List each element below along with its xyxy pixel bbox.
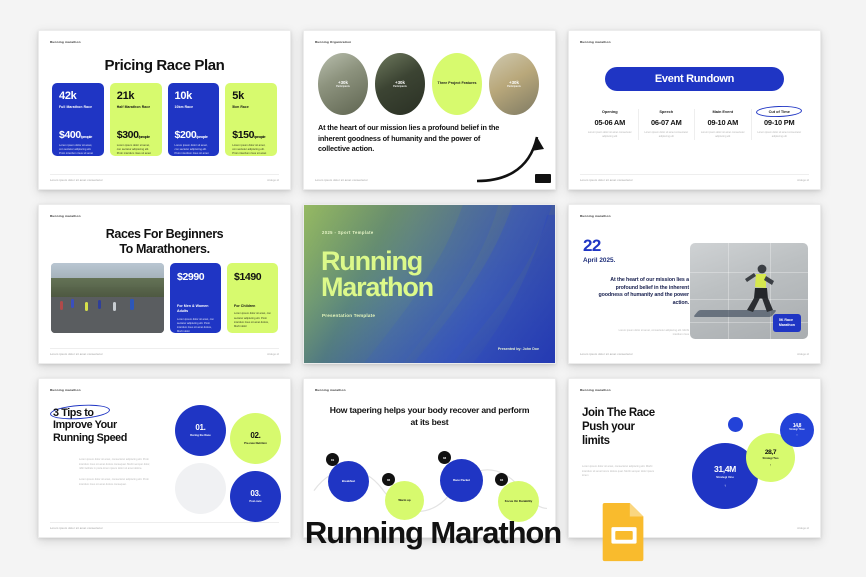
event-time: 09-10 AM: [699, 118, 747, 127]
hero-title: Running Marathon: [321, 248, 433, 301]
hero-title-line-1: Running: [321, 248, 433, 274]
pricing-label: 5km Race: [232, 105, 270, 109]
slide-footer-page: slidego.id: [267, 352, 279, 356]
event-rundown-title: Event Rundown: [605, 67, 784, 91]
tip-label: Pre-race Nutrition: [244, 442, 267, 446]
tip-number: 01.: [195, 423, 205, 432]
bubble-label: Strategi Two: [763, 457, 779, 460]
mission-quote: At the heart of our mission lies a profo…: [597, 277, 689, 308]
slide-thumbnail-grid: Running marathon Pricing Race Plan 42k F…: [38, 30, 830, 530]
brand-mark: Running marathon: [315, 388, 346, 392]
pricing-price: $150/people: [232, 129, 270, 141]
bubble-trend-arrow-icon: ↑: [770, 463, 772, 467]
event-time: 09-10 PM: [756, 118, 804, 127]
decorative-dot: [728, 417, 743, 432]
photo-runner: [85, 302, 88, 311]
brand-mark: Running Organization: [315, 40, 351, 44]
divider: [580, 174, 809, 175]
event-day: 22: [583, 237, 601, 254]
divider: [50, 348, 279, 349]
pricing-desc: Lorem ipsum dolor sit amet, con sectetur…: [59, 144, 97, 156]
hero-kicker: 2025 - Sport Template: [322, 230, 374, 235]
pricing-desc: Lorem ipsum dolor sit amet, con sectetur…: [117, 144, 155, 156]
slide-footer-note: Lorem ipsum dolor sit amet consectetur: [580, 178, 633, 182]
photo-runner: [60, 301, 63, 310]
title-line-1: Join The Race: [582, 407, 655, 421]
tip-label: During the Race: [190, 434, 211, 438]
bubble-trend-arrow-icon: ↑: [796, 433, 798, 437]
pricing-label: Full Marathon Race: [59, 105, 97, 109]
step-label: Breakfast: [342, 479, 355, 483]
pricing-card[interactable]: 10k 10km Race $200/people Lorem ipsum do…: [168, 83, 220, 156]
pricing-label: Half Marathon Race: [117, 105, 155, 109]
slide-mission-features[interactable]: Running Organization +30kParticipants +3…: [303, 30, 556, 190]
event-column[interactable]: Speech 06-07 AM Lorem ipsum dolor sit am…: [639, 109, 696, 140]
event-month-year: April 2025.: [583, 257, 615, 264]
participant-badge: +30kParticipants: [507, 80, 521, 89]
title-line-3: Running Speed: [53, 432, 127, 444]
event-time: 06-07 AM: [643, 118, 691, 127]
page-title: Join The Race Push your limits: [582, 407, 655, 448]
hero-presented-by: Presented by: John Doe: [498, 347, 539, 351]
title-line-2: To Marathoners.: [39, 242, 290, 257]
race-price-card[interactable]: $1490 For Children Lorem ipsum dolor sit…: [227, 263, 278, 333]
pricing-amount: 5k: [232, 91, 270, 102]
pricing-per: /people: [196, 134, 207, 139]
races-content-row: $2990 For Men & Women Adults Lorem ipsum…: [51, 263, 278, 333]
slide-footer-page: slidego.id: [797, 178, 809, 182]
slide-footer-page: slidego.id: [267, 178, 279, 182]
slide-tapering[interactable]: Running marathon How tapering helps your…: [303, 378, 556, 538]
photo-circle[interactable]: +30kParticipants: [318, 53, 368, 115]
event-desc: Lorem ipsum dolor sit amet consectetur a…: [699, 131, 747, 140]
timeline-bubble[interactable]: Race Packet: [440, 459, 483, 502]
page-title: Races For Beginners To Marathoners.: [39, 227, 290, 257]
pricing-price: $300/people: [117, 129, 155, 141]
event-column[interactable]: Main Event 09-10 AM Lorem ipsum dolor si…: [695, 109, 752, 140]
tip-number: 03.: [250, 489, 260, 498]
pricing-card[interactable]: 42k Full Marathon Race $400/people Lorem…: [52, 83, 104, 156]
brand-mark: Running marathon: [50, 40, 81, 44]
tips-body-text: Lorem ipsum dolor sit amet, consectetur …: [79, 458, 151, 487]
mission-note: Lorem ipsum dolor sit amet, consectetur …: [609, 329, 689, 337]
photo-runner: [71, 299, 74, 308]
slide-pricing-race-plan[interactable]: Running marathon Pricing Race Plan 42k F…: [38, 30, 291, 190]
slide-footer-note: Lorem ipsum dolor sit amet consectetur: [50, 178, 103, 182]
event-desc: Lorem ipsum dolor sit amet consectetur a…: [756, 131, 804, 140]
photo-runner: [113, 302, 116, 311]
brand-mark: Running marathon: [50, 214, 81, 218]
banner-title: Running Marathon: [0, 515, 866, 551]
event-label: Speech: [643, 109, 691, 114]
photo-tile-line: [728, 243, 729, 339]
divider: [50, 174, 279, 175]
tip-circle-list: 01. During the Race 02. Pre-race Nutriti…: [175, 405, 281, 525]
feature-circle-label: Three Project Features: [438, 81, 477, 86]
brand-mark: Running marathon: [580, 214, 611, 218]
strategy-bubble-chart: 31,4M Strategi One ↑ 28,7 Strategi Two ↑…: [684, 403, 814, 523]
page-title: How tapering helps your body recover and…: [326, 405, 533, 428]
step-number-badge: 02: [382, 473, 395, 486]
runner-photo: 5K Race Marathon: [690, 243, 808, 339]
tip-circle[interactable]: 02. Pre-race Nutrition: [230, 413, 281, 464]
feature-circle[interactable]: Three Project Features: [432, 53, 482, 115]
brand-mark: Running marathon: [50, 388, 81, 392]
badge-line-2: Marathon: [779, 323, 795, 328]
step-number-badge: 04: [495, 473, 508, 486]
event-schedule-list: Opening 05-06 AM Lorem ipsum dolor sit a…: [582, 109, 807, 140]
join-body-text: Lorem ipsum dolor sit amet, consectetur …: [582, 465, 656, 479]
pricing-per: /people: [139, 134, 150, 139]
tips-paragraph: Lorem ipsum dolor sit amet, consectetur …: [79, 458, 151, 472]
race-price: $1490: [234, 271, 271, 283]
photo-circle[interactable]: +30kParticipants: [489, 53, 539, 115]
pricing-amount: 10k: [175, 91, 213, 102]
tip-placeholder-circle: [175, 463, 226, 514]
google-slides-icon: [593, 501, 655, 563]
slide-footer-page: slidego.id: [797, 352, 809, 356]
pricing-card-list: 42k Full Marathon Race $400/people Lorem…: [52, 83, 277, 156]
race-price-card[interactable]: $2990 For Men & Women Adults Lorem ipsum…: [170, 263, 221, 333]
title-line-2: Push your: [582, 421, 655, 435]
pricing-label: 10km Race: [175, 105, 213, 109]
pricing-card[interactable]: 21k Half Marathon Race $300/people Lorem…: [110, 83, 162, 156]
slide-footer-note: Lorem ipsum dolor sit amet consectetur: [580, 352, 633, 356]
slide-event-rundown[interactable]: Running marathon Event Rundown Opening 0…: [568, 30, 821, 190]
tip-label: Post-race: [249, 500, 261, 504]
brand-mark: Running marathon: [580, 40, 611, 44]
bubble-label: Strategi Three: [789, 429, 804, 431]
tip-circle[interactable]: 01. During the Race: [175, 405, 226, 456]
pricing-price: $200/people: [175, 129, 213, 141]
event-desc: Lorem ipsum dolor sit amet consectetur a…: [586, 131, 634, 140]
page-title: Pricing Race Plan: [39, 57, 290, 74]
event-desc: Lorem ipsum dolor sit amet consectetur a…: [643, 131, 691, 140]
pricing-per: /people: [81, 134, 92, 139]
feature-circle-list: +30kParticipants +30kParticipants Three …: [318, 53, 543, 115]
strategy-bubble[interactable]: 14,8 Strategi Three ↑: [780, 413, 814, 447]
pricing-desc: Lorem ipsum dolor sit amet, con sectetur…: [175, 144, 213, 156]
pricing-amount: 42k: [59, 91, 97, 102]
slide-three-tips[interactable]: Running marathon 3 Tips to Improve Your …: [38, 378, 291, 538]
event-label: Main Event: [699, 109, 747, 114]
pricing-price: $400/people: [59, 129, 97, 141]
pricing-amount: 21k: [117, 91, 155, 102]
hero-subtitle: Presentation Template: [322, 313, 375, 318]
slide-footer-note: Lorem ipsum dolor sit amet consectetur: [315, 178, 368, 182]
step-number-badge: 01: [326, 453, 339, 466]
page-title: 3 Tips to Improve Your Running Speed: [53, 407, 127, 444]
bubble-label: Strategi One: [716, 475, 734, 479]
timeline-bubble[interactable]: Breakfast: [328, 461, 369, 502]
hero-title-line-2: Marathon: [321, 274, 433, 300]
slide-hero-cover[interactable]: 2025 - Sport Template Running Marathon P…: [303, 204, 556, 364]
tips-paragraph: Lorem ipsum dolor sit amet, consectetur …: [79, 478, 151, 487]
photo-circle[interactable]: +30kParticipants: [375, 53, 425, 115]
tip-number: 02.: [250, 431, 260, 440]
step-number-badge: 03: [438, 451, 451, 464]
pricing-desc: Lorem ipsum dolor sit amet, con sectetur…: [232, 144, 270, 156]
slide-footer-note: Lorem ipsum dolor sit amet consectetur: [50, 352, 103, 356]
race-audience: For Men & Women Adults: [177, 304, 214, 315]
pricing-per: /people: [254, 134, 265, 139]
race-price: $2990: [177, 271, 214, 283]
photo-road: [51, 297, 164, 333]
event-label: Opening: [586, 109, 634, 114]
pricing-card[interactable]: 5k 5km Race $150/people Lorem ipsum dolo…: [225, 83, 277, 156]
race-desc: Lorem ipsum dolor sit amet, con sectetur…: [234, 312, 271, 329]
step-label: Focus On Durability: [505, 499, 532, 503]
highlight-ellipse: [756, 105, 802, 118]
title-line-3: limits: [582, 435, 655, 449]
slide-races-for-beginners[interactable]: Running marathon Races For Beginners To …: [38, 204, 291, 364]
step-label: Race Packet: [453, 478, 470, 482]
corner-chip: [535, 174, 551, 183]
race-desc: Lorem ipsum dolor sit amet, con sectetur…: [177, 318, 214, 335]
bubble-value: 28,7: [765, 449, 776, 456]
participant-badge: +30kParticipants: [393, 80, 407, 89]
bubble-trend-arrow-icon: ↑: [724, 483, 726, 488]
event-time: 05-06 AM: [586, 118, 634, 127]
title-line-2: Improve Your: [53, 419, 127, 431]
runner-figure-icon: [742, 262, 776, 318]
step-label: Warm up: [398, 498, 410, 502]
bubble-value: 31,4M: [714, 464, 736, 474]
race-audience: For Children: [234, 304, 271, 309]
participant-badge: +30kParticipants: [336, 80, 350, 89]
race-photo: [51, 263, 164, 333]
race-type-badge[interactable]: 5K Race Marathon: [773, 314, 801, 332]
slide-date-mission[interactable]: Running marathon 22 April 2025. At the h…: [568, 204, 821, 364]
title-line-1: Races For Beginners: [39, 227, 290, 242]
brand-mark: Running marathon: [580, 388, 611, 392]
photo-runner: [130, 299, 134, 310]
event-column-highlighted[interactable]: Cut of Time 09-10 PM Lorem ipsum dolor s…: [752, 109, 808, 140]
event-column[interactable]: Opening 05-06 AM Lorem ipsum dolor sit a…: [582, 109, 639, 140]
title-line-1: 3 Tips to: [53, 407, 127, 419]
